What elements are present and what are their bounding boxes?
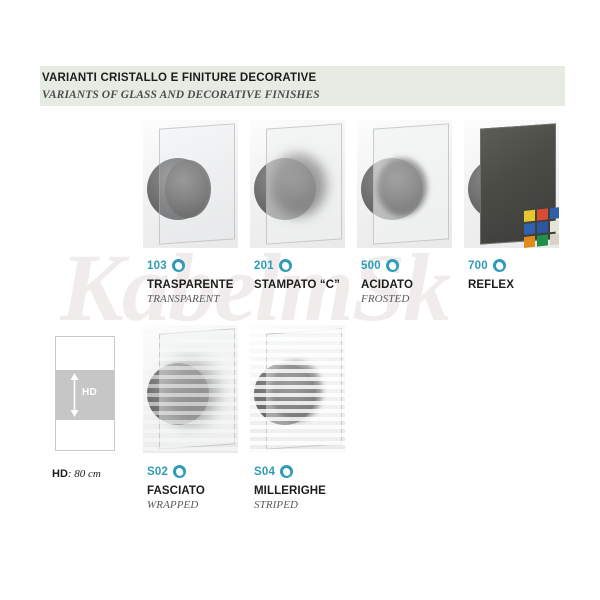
variant-name-it: STAMPATO “C”: [254, 279, 340, 291]
droplet-badge-icon: [493, 259, 506, 272]
soft-texture-overlay: [143, 325, 238, 453]
code-row: S02: [147, 464, 205, 479]
variant-name-it: ACIDATO: [361, 279, 413, 291]
droplet-badge-icon: [386, 259, 399, 272]
variant-name-it: TRASPARENTE: [147, 279, 234, 291]
code-row: 103: [147, 258, 234, 273]
variant-name-en: FROSTED: [361, 293, 413, 305]
code-row: 700: [468, 258, 514, 273]
sample-photo: [250, 325, 345, 453]
sample-photo: [357, 120, 452, 248]
glass-sample-printed-c[interactable]: [250, 120, 345, 248]
caption-transparent: 103 TRASPARENTE TRANSPARENT: [147, 258, 234, 305]
caption-reflex: 700 REFLEX: [468, 258, 514, 293]
variant-code: 103: [147, 260, 167, 272]
sample-photo: [143, 120, 238, 248]
glass-variants-page: KabelmSk VARIANTI CRISTALLO E FINITURE D…: [0, 0, 600, 600]
variant-code: 500: [361, 260, 381, 272]
caption-frosted: 500 ACIDATO FROSTED: [361, 258, 413, 305]
variant-name-en: TRANSPARENT: [147, 293, 234, 305]
sphere-through-glass: [270, 154, 326, 216]
variant-code: 700: [468, 260, 488, 272]
glass-sample-wrapped[interactable]: [143, 325, 238, 453]
sample-photo: [143, 325, 238, 453]
caption-striped: S04 MILLERIGHE STRIPED: [254, 464, 326, 511]
variant-name-en: STRIPED: [254, 499, 326, 511]
page-title: VARIANTI CRISTALLO E FINITURE DECORATIVE: [42, 72, 316, 84]
droplet-badge-icon: [172, 259, 185, 272]
sphere-through-glass: [165, 160, 211, 218]
color-checker-chart: [524, 207, 559, 248]
sphere-through-glass: [377, 158, 427, 216]
hd-caption: HD: 80 cm: [52, 468, 101, 480]
variant-code: S04: [254, 466, 275, 478]
glass-sample-striped[interactable]: [250, 325, 345, 453]
sample-photo: [250, 120, 345, 248]
sample-photo: [464, 120, 559, 248]
hd-band-label: HD: [82, 387, 97, 398]
hd-caption-bold: HD: [52, 468, 68, 480]
code-row: S04: [254, 464, 326, 479]
variant-name-it: MILLERIGHE: [254, 485, 326, 497]
variant-name-it: REFLEX: [468, 279, 514, 291]
code-row: 201: [254, 258, 340, 273]
glass-sample-transparent[interactable]: [143, 120, 238, 248]
page-subtitle: VARIANTS OF GLASS AND DECORATIVE FINISHE…: [42, 89, 320, 101]
variant-name-en: WRAPPED: [147, 499, 205, 511]
code-row: 500: [361, 258, 413, 273]
caption-wrapped: S02 FASCIATO WRAPPED: [147, 464, 205, 511]
variant-code: 201: [254, 260, 274, 272]
caption-printed-c: 201 STAMPATO “C”: [254, 258, 340, 293]
droplet-badge-icon: [173, 465, 186, 478]
droplet-badge-icon: [279, 259, 292, 272]
variant-code: S02: [147, 466, 168, 478]
hd-diagram: HD: [55, 336, 115, 451]
glass-sample-reflex[interactable]: [464, 120, 559, 248]
stripe-texture-overlay: [250, 325, 345, 453]
droplet-badge-icon: [280, 465, 293, 478]
glass-sample-frosted[interactable]: [357, 120, 452, 248]
variant-name-it: FASCIATO: [147, 485, 205, 497]
hd-dimension-arrow: [70, 373, 79, 417]
hd-caption-rest: : 80 cm: [68, 468, 101, 480]
